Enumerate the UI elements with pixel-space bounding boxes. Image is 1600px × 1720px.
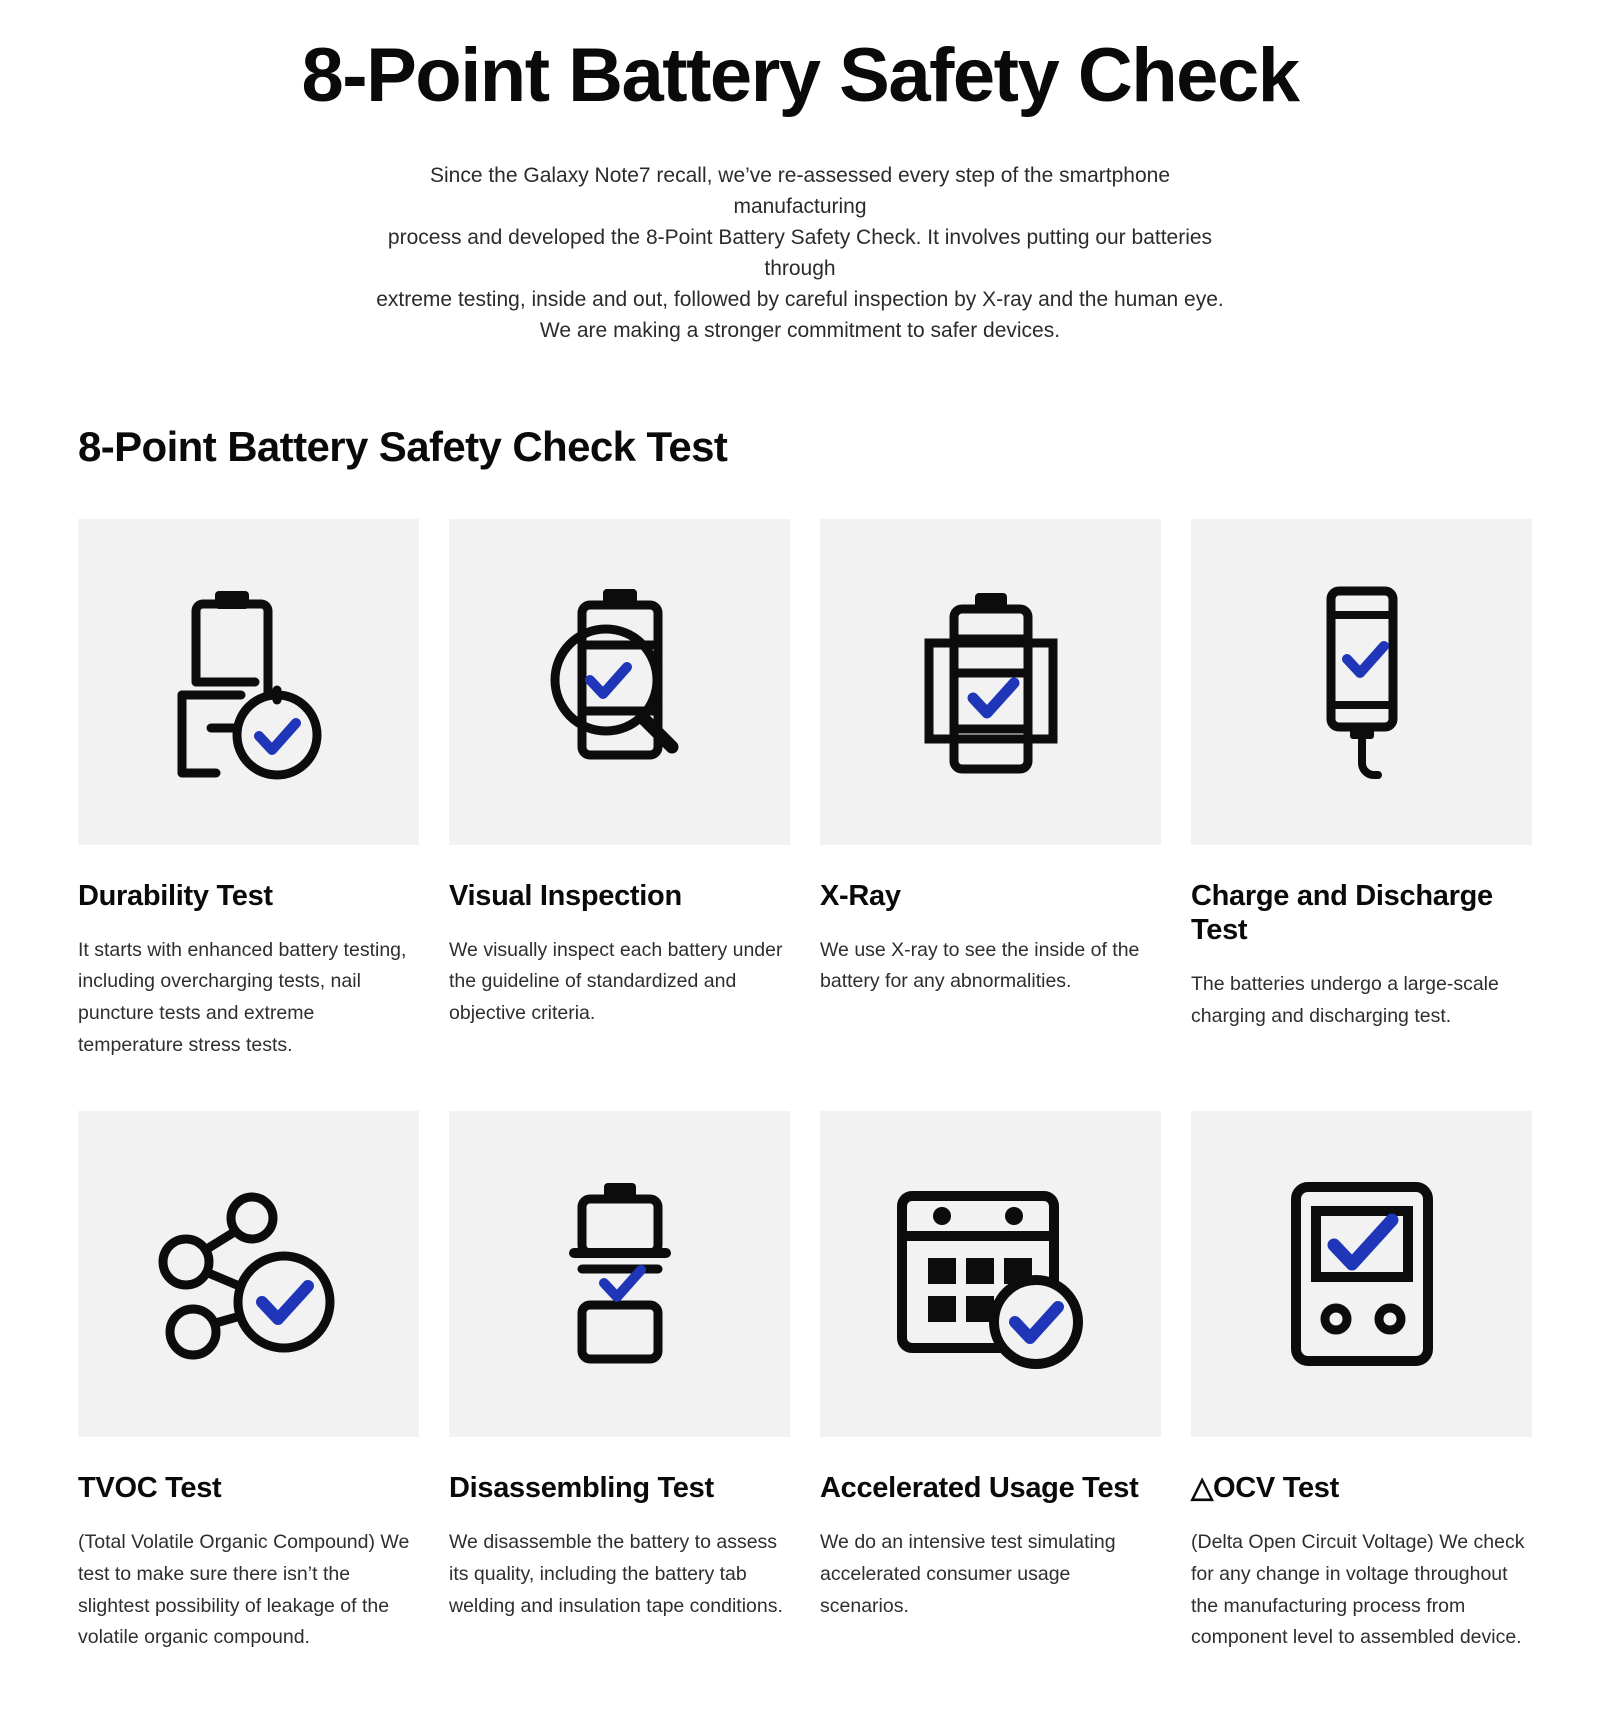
card-title: Durability Test — [78, 879, 419, 913]
battery-xray-check-icon — [891, 577, 1091, 787]
card-thumbnail — [78, 519, 419, 845]
test-card-grid: Durability Test It starts with enhanced … — [78, 519, 1522, 1662]
intro-paragraph: Since the Galaxy Note7 recall, we’ve re-… — [370, 160, 1230, 346]
intro-line-2: process and developed the 8-Point Batter… — [370, 222, 1230, 284]
card-thumbnail — [1191, 519, 1532, 845]
battery-clock-check-icon — [149, 577, 349, 787]
card-thumbnail — [820, 519, 1161, 845]
battery-magnifier-check-icon — [520, 577, 720, 787]
card-title: Visual Inspection — [449, 879, 790, 913]
test-card[interactable]: X-Ray We use X-ray to see the inside of … — [820, 519, 1161, 1062]
voltmeter-check-icon — [1262, 1169, 1462, 1379]
card-description: (Total Volatile Organic Compound) We tes… — [78, 1527, 419, 1653]
card-description: We disassemble the battery to assess its… — [449, 1527, 790, 1622]
page-root: 8-Point Battery Safety Check Since the G… — [0, 38, 1600, 1702]
card-description: We visually inspect each battery under t… — [449, 935, 790, 1030]
card-title: Accelerated Usage Test — [820, 1471, 1161, 1505]
section-heading: 8-Point Battery Safety Check Test — [0, 424, 1600, 470]
calendar-check-icon — [886, 1174, 1096, 1374]
test-card[interactable]: △OCV Test (Delta Open Circuit Voltage) W… — [1191, 1111, 1532, 1654]
card-title: X-Ray — [820, 879, 1161, 913]
phone-charging-check-icon — [1262, 577, 1462, 787]
test-card[interactable]: Charge and Discharge Test The batteries … — [1191, 519, 1532, 1062]
molecule-check-icon — [144, 1174, 354, 1374]
test-card[interactable]: TVOC Test (Total Volatile Organic Compou… — [78, 1111, 419, 1654]
intro-line-1: Since the Galaxy Note7 recall, we’ve re-… — [370, 160, 1230, 222]
test-card[interactable]: Disassembling Test We disassemble the ba… — [449, 1111, 790, 1654]
card-title: Charge and Discharge Test — [1191, 879, 1532, 947]
card-thumbnail — [820, 1111, 1161, 1437]
intro-line-4: We are making a stronger commitment to s… — [370, 315, 1230, 346]
test-card[interactable]: Accelerated Usage Test We do an intensiv… — [820, 1111, 1161, 1654]
card-description: It starts with enhanced battery testing,… — [78, 935, 419, 1061]
card-description: We do an intensive test simulating accel… — [820, 1527, 1161, 1622]
card-description: The batteries undergo a large-scale char… — [1191, 969, 1532, 1032]
test-card[interactable]: Visual Inspection We visually inspect ea… — [449, 519, 790, 1062]
battery-disassemble-check-icon — [520, 1169, 720, 1379]
test-card[interactable]: Durability Test It starts with enhanced … — [78, 519, 419, 1062]
card-title: △OCV Test — [1191, 1471, 1532, 1505]
intro-line-3: extreme testing, inside and out, followe… — [370, 284, 1230, 315]
card-title: TVOC Test — [78, 1471, 419, 1505]
card-title: Disassembling Test — [449, 1471, 790, 1505]
card-thumbnail — [449, 519, 790, 845]
card-thumbnail — [449, 1111, 790, 1437]
card-description: (Delta Open Circuit Voltage) We check fo… — [1191, 1527, 1532, 1653]
grid-row-spacer — [78, 1069, 1532, 1111]
card-description: We use X-ray to see the inside of the ba… — [820, 935, 1161, 998]
page-title: 8-Point Battery Safety Check — [0, 38, 1600, 114]
card-thumbnail — [1191, 1111, 1532, 1437]
card-thumbnail — [78, 1111, 419, 1437]
